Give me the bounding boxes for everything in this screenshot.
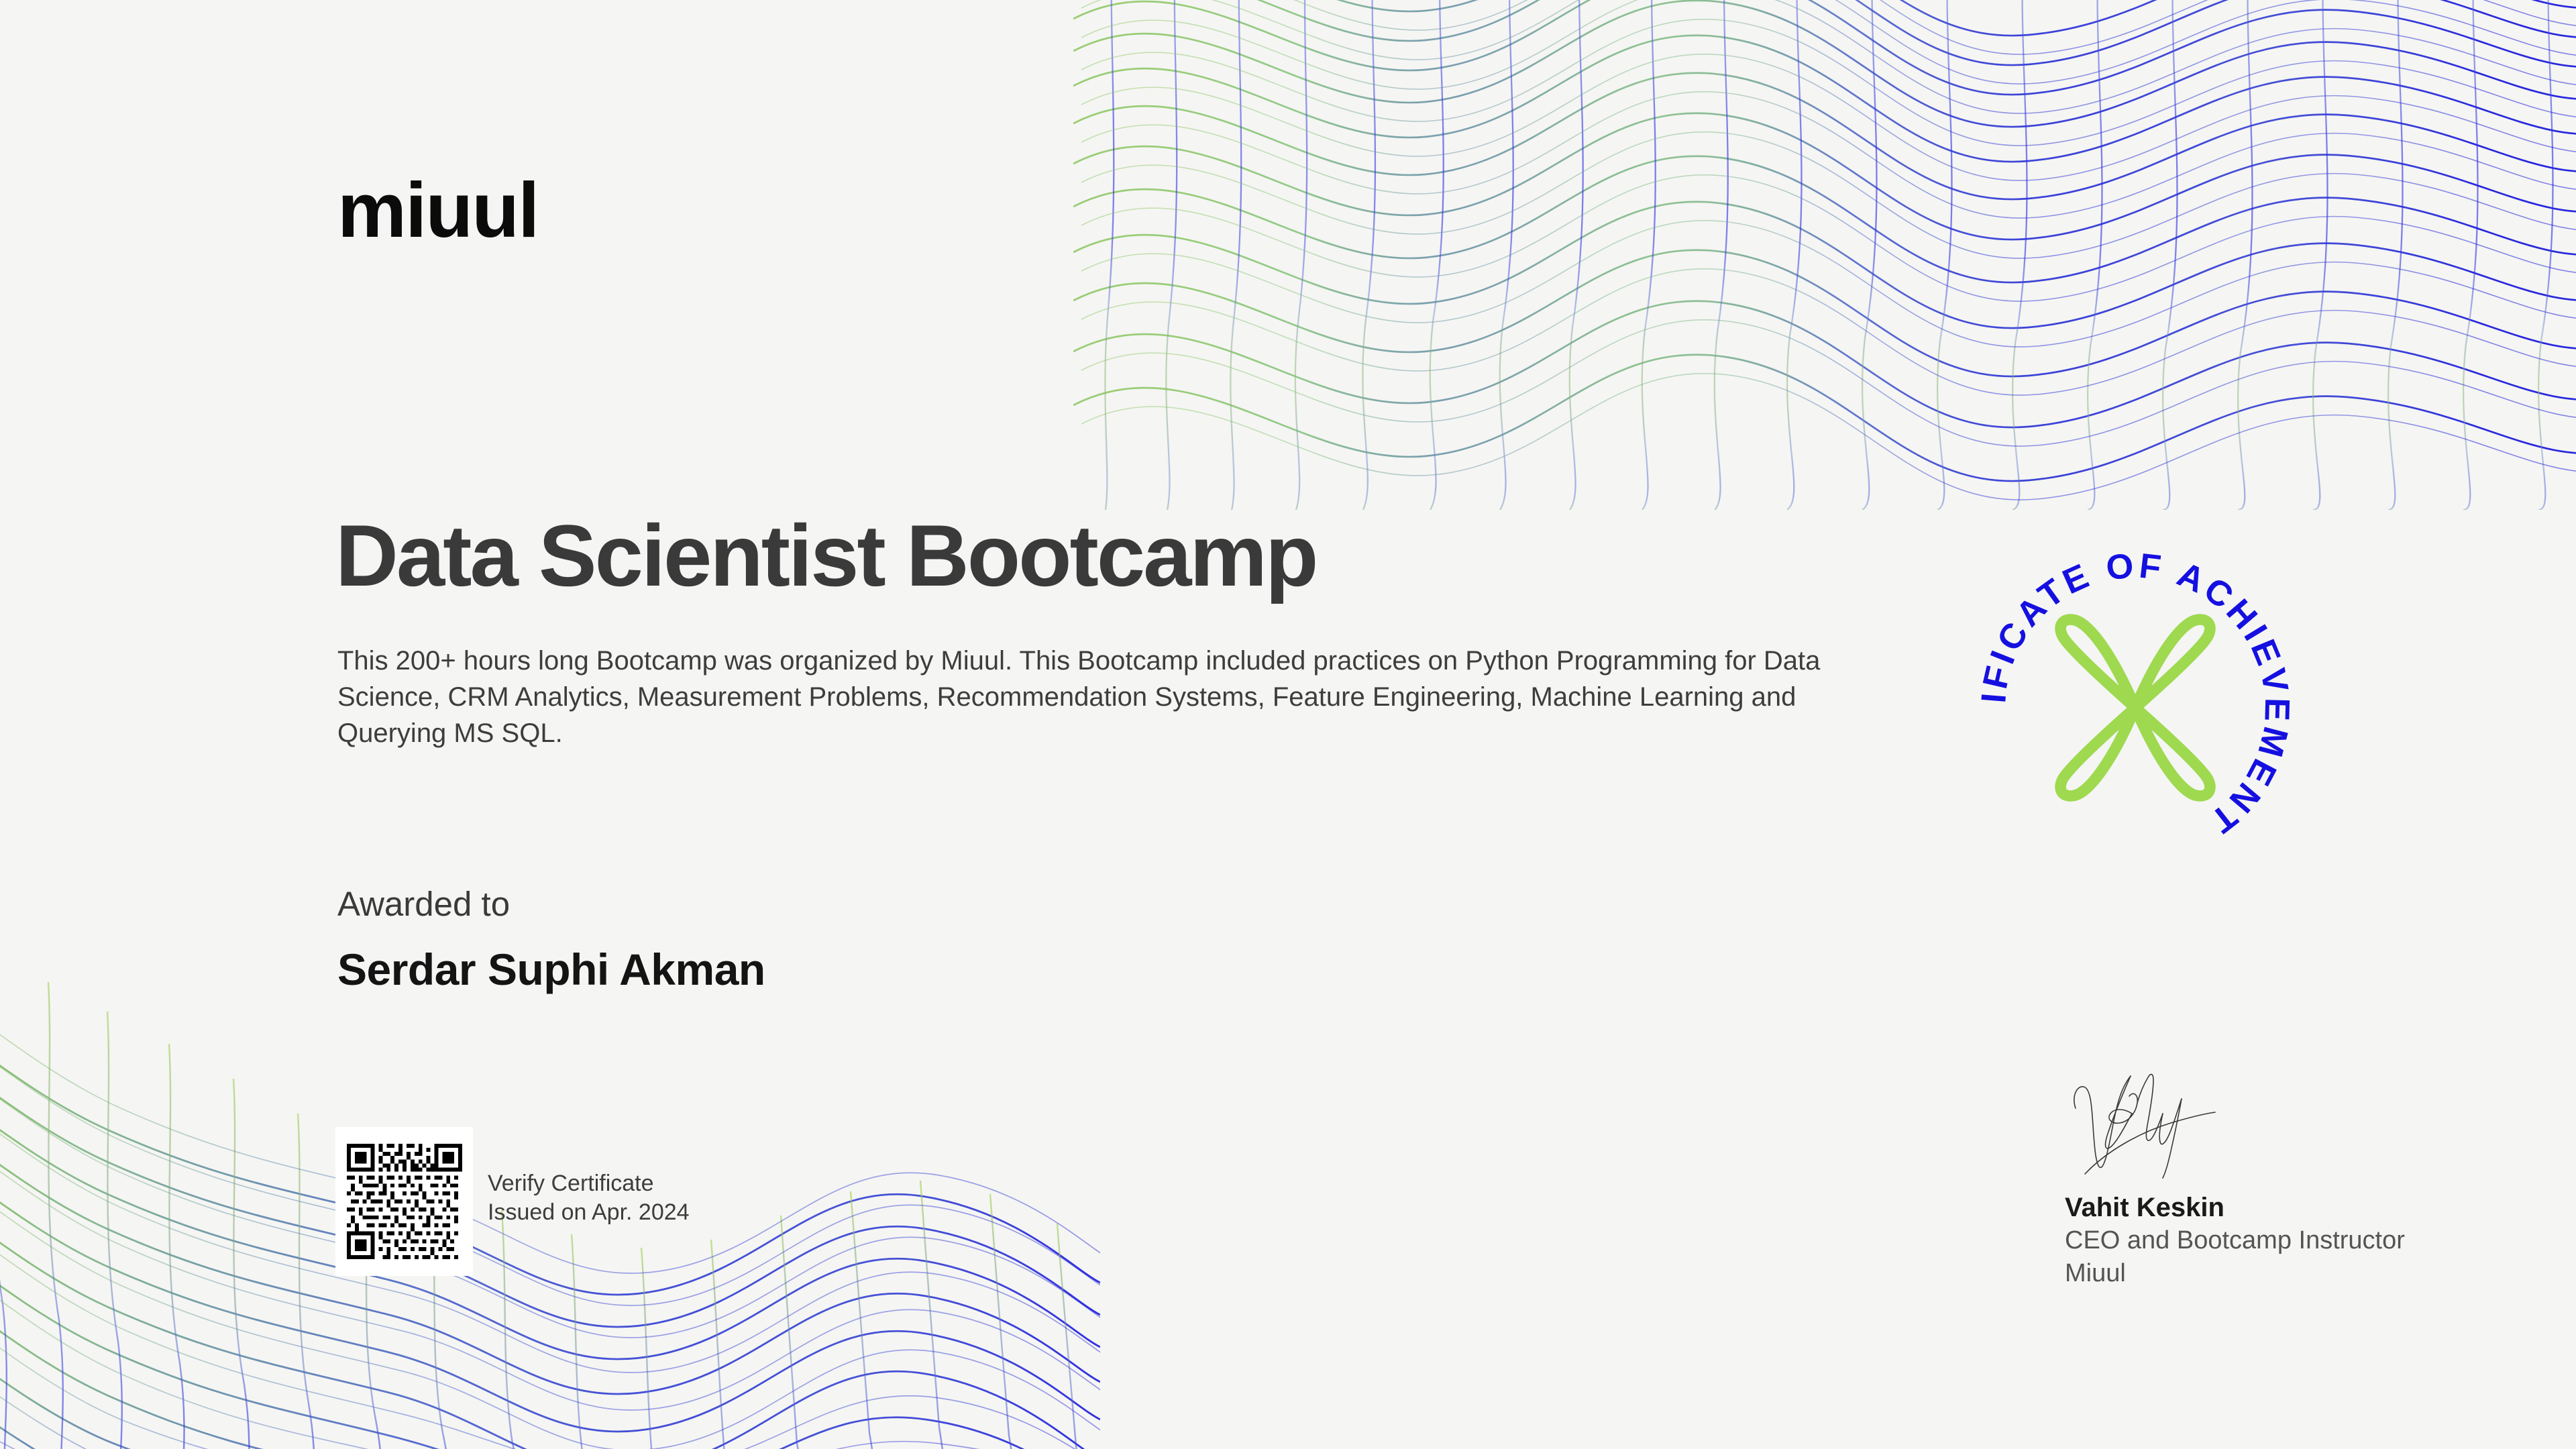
butterfly-mark bbox=[2059, 610, 2212, 806]
verify-text: Verify Certificate Issued on Apr. 2024 bbox=[488, 1169, 690, 1227]
awarded-to-label: Awarded to bbox=[337, 887, 510, 921]
certificate-page: miuul Data Scientist Bootcamp This 200+ … bbox=[0, 0, 2576, 1449]
signer-name: Vahit Keskin bbox=[2065, 1191, 2481, 1224]
page-title: Data Scientist Bootcamp bbox=[335, 512, 1316, 599]
qr-card[interactable] bbox=[335, 1127, 473, 1276]
certificate-seal: CERTIFICATE OF ACHIEVEMENT bbox=[1964, 537, 2306, 879]
decorative-wave-top-right bbox=[1073, 0, 2576, 510]
signer-organization: Miuul bbox=[2065, 1257, 2481, 1290]
course-description: This 200+ hours long Bootcamp was organi… bbox=[337, 643, 1900, 751]
miuul-logo: miuul bbox=[337, 171, 538, 249]
recipient-name: Serdar Suphi Akman bbox=[337, 947, 765, 991]
handwritten-signature-icon bbox=[2066, 1067, 2247, 1184]
verify-block: Verify Certificate Issued on Apr. 2024 bbox=[335, 1127, 690, 1276]
signature-block: Vahit Keskin CEO and Bootcamp Instructor… bbox=[2065, 1067, 2481, 1289]
signer-role: CEO and Bootcamp Instructor bbox=[2065, 1224, 2481, 1257]
qr-code-icon[interactable] bbox=[347, 1144, 462, 1259]
issued-on-label: Issued on Apr. 2024 bbox=[488, 1198, 690, 1227]
verify-certificate-label: Verify Certificate bbox=[488, 1169, 690, 1198]
